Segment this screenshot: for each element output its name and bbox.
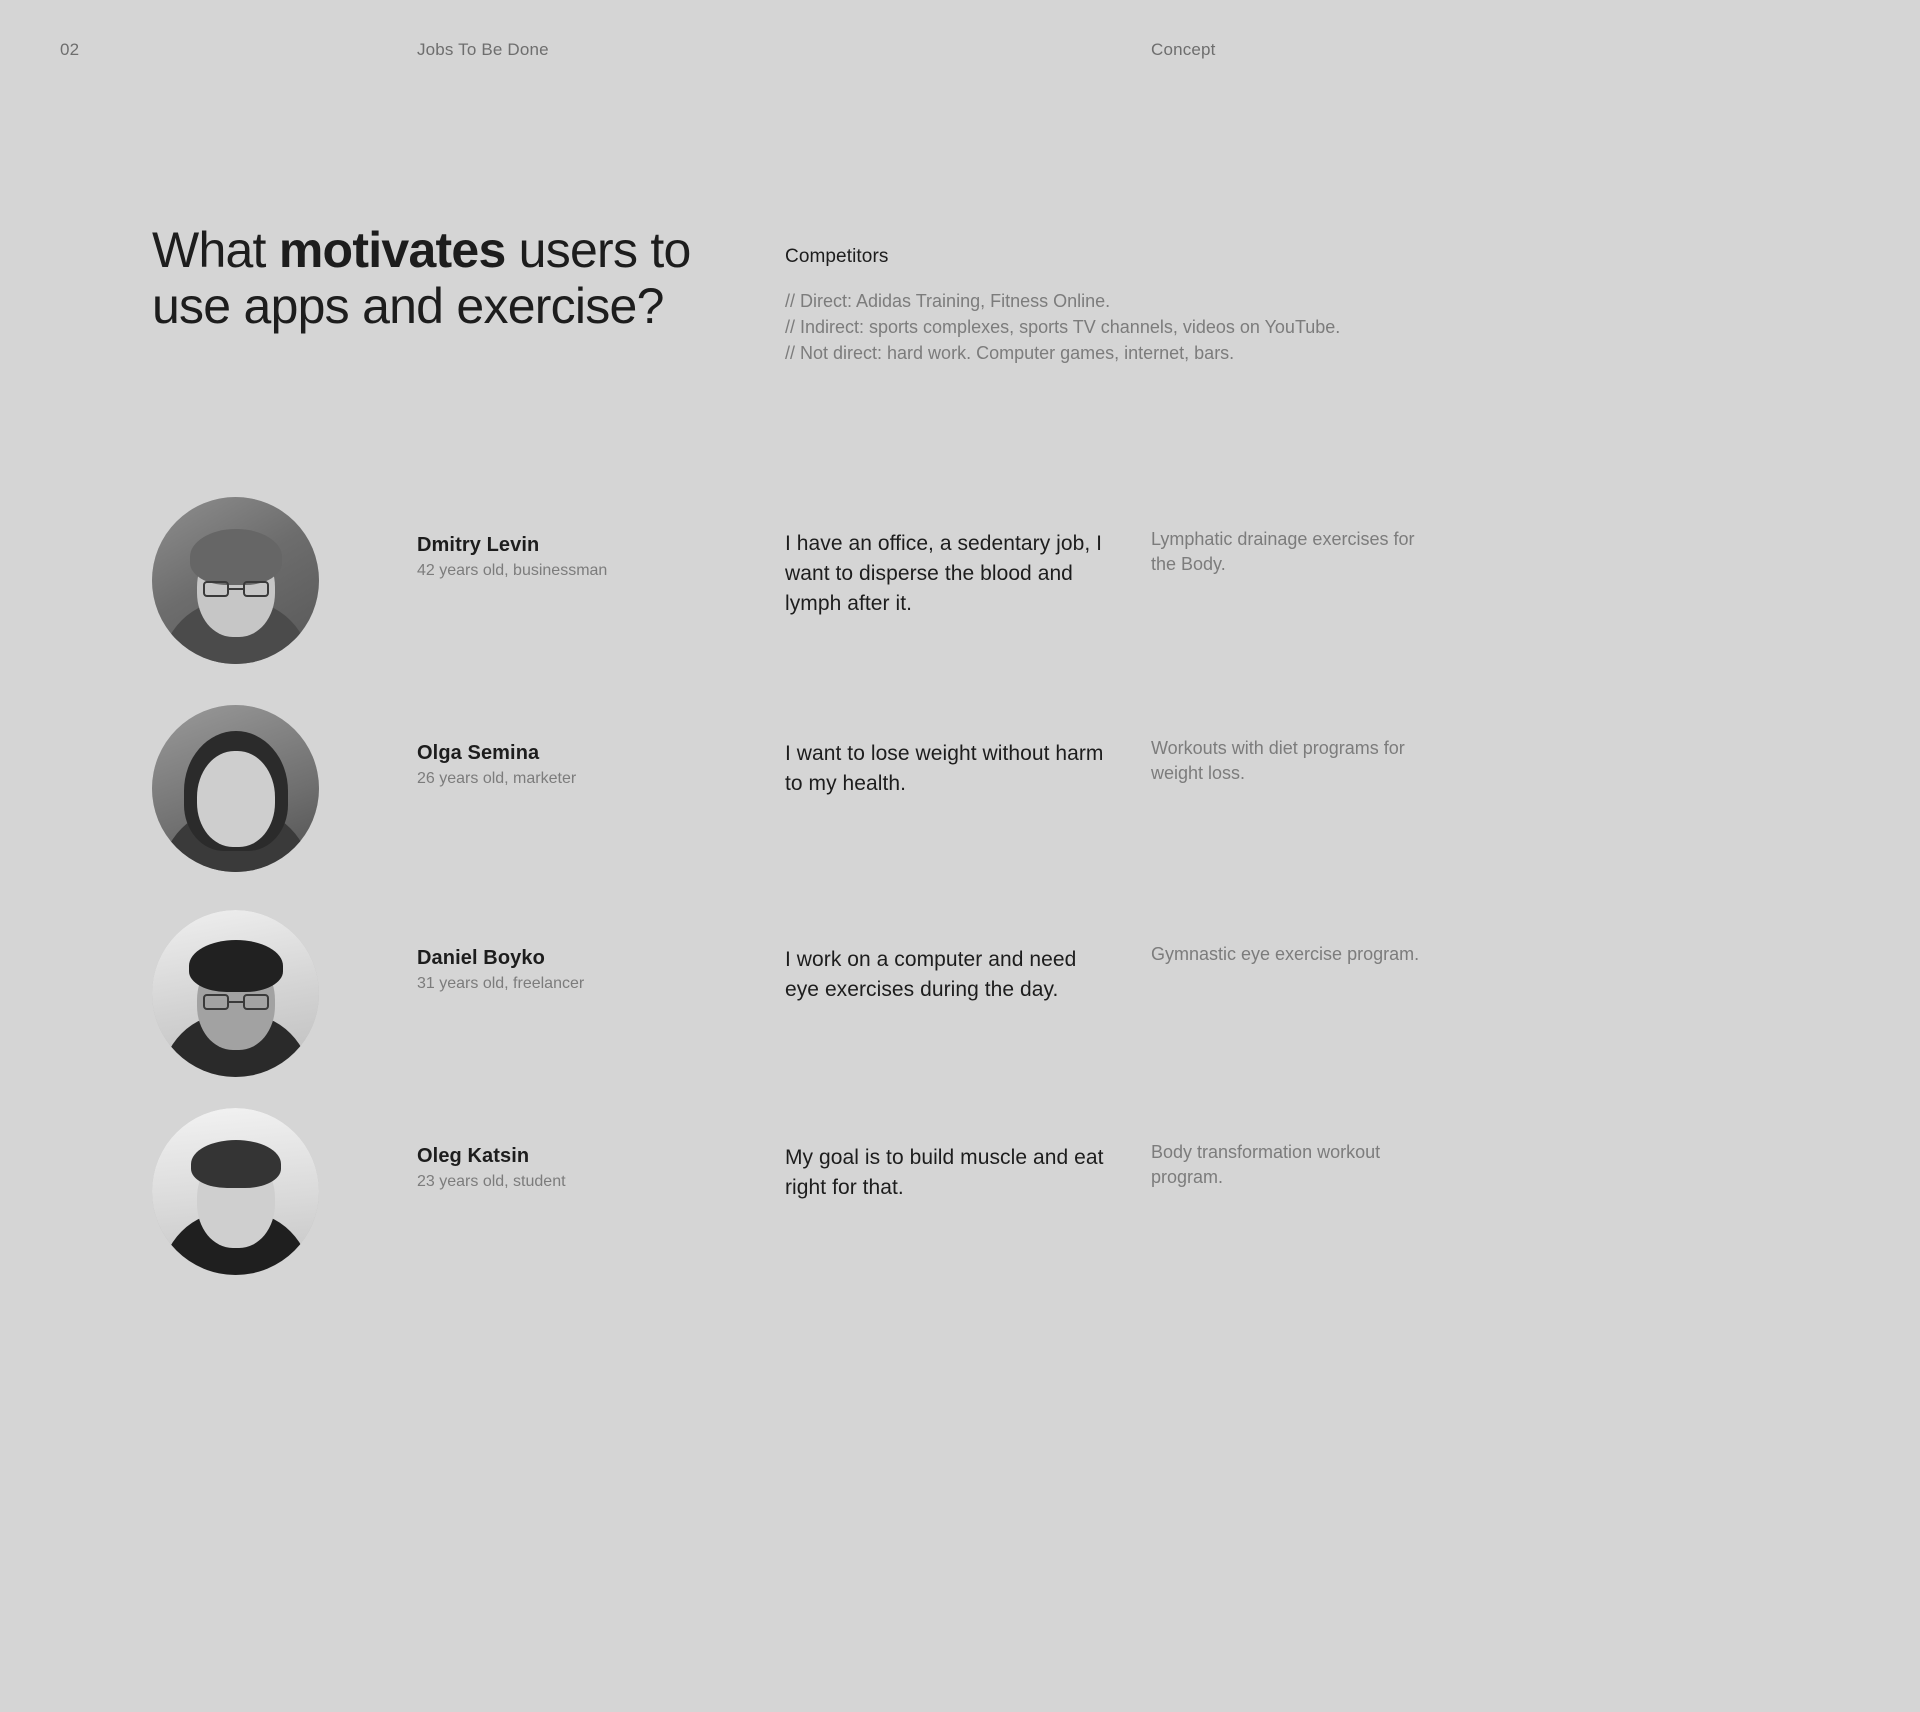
persona-identity: Dmitry Levin 42 years old, businessman [417, 532, 747, 582]
competitors-line-indirect: // Indirect: sports complexes, sports TV… [785, 315, 1425, 341]
headline-part-1: What [152, 222, 279, 278]
persona-meta: 31 years old, freelancer [417, 974, 747, 995]
persona-quote: I have an office, a sedentary job, I wan… [785, 529, 1105, 618]
page-title: What motivates users to use apps and exe… [152, 222, 692, 334]
avatar-dmitry-levin [152, 497, 319, 664]
glasses-icon [203, 994, 269, 1010]
avatar-daniel-boyko [152, 910, 319, 1077]
competitors-line-direct: // Direct: Adidas Training, Fitness Onli… [785, 289, 1425, 315]
list-item: Dmitry Levin 42 years old, businessman I… [0, 489, 1920, 697]
persona-name: Dmitry Levin [417, 532, 747, 558]
competitors-title: Competitors [785, 246, 1425, 268]
slide-canvas: 02 Jobs To Be Done Concept What motivate… [0, 0, 1920, 1712]
persona-solution: Body transformation workout program. [1151, 1140, 1441, 1190]
persona-name: Oleg Katsin [417, 1143, 747, 1169]
persona-meta: 42 years old, businessman [417, 561, 747, 582]
persona-identity: Olga Semina 26 years old, marketer [417, 740, 747, 790]
list-item: Oleg Katsin 23 years old, student My goa… [0, 1100, 1920, 1300]
competitors-block: Competitors // Direct: Adidas Training, … [785, 246, 1425, 367]
persona-quote: I want to lose weight without harm to my… [785, 739, 1105, 799]
persona-quote: My goal is to build muscle and eat right… [785, 1143, 1105, 1203]
persona-name: Olga Semina [417, 740, 747, 766]
persona-name: Daniel Boyko [417, 945, 747, 971]
list-item: Olga Semina 26 years old, marketer I wan… [0, 697, 1920, 902]
persona-solution: Gymnastic eye exercise program. [1151, 942, 1441, 967]
list-item: Daniel Boyko 31 years old, freelancer I … [0, 902, 1920, 1100]
section-name: Jobs To Be Done [417, 40, 549, 60]
slide-number: 02 [60, 40, 79, 60]
persona-quote: I work on a computer and need eye exerci… [785, 945, 1105, 1005]
deck-name: Concept [1151, 40, 1216, 60]
slide-topbar: 02 Jobs To Be Done Concept [0, 40, 1920, 64]
competitors-line-not-direct: // Not direct: hard work. Computer games… [785, 341, 1425, 367]
persona-meta: 23 years old, student [417, 1172, 747, 1193]
persona-solution: Workouts with diet programs for weight l… [1151, 736, 1441, 786]
avatar-oleg-katsin [152, 1108, 319, 1275]
glasses-icon [203, 581, 269, 597]
avatar-hair [189, 940, 283, 992]
persona-identity: Oleg Katsin 23 years old, student [417, 1143, 747, 1193]
persona-meta: 26 years old, marketer [417, 769, 747, 790]
avatar-hair [190, 529, 282, 585]
persona-solution: Lymphatic drainage exercises for the Bod… [1151, 527, 1441, 577]
avatar-head [197, 751, 275, 847]
avatar-olga-semina [152, 705, 319, 872]
avatar-hair [191, 1140, 281, 1188]
headline-emphasis: motivates [279, 222, 506, 278]
persona-list: Dmitry Levin 42 years old, businessman I… [0, 489, 1920, 1300]
persona-identity: Daniel Boyko 31 years old, freelancer [417, 945, 747, 995]
